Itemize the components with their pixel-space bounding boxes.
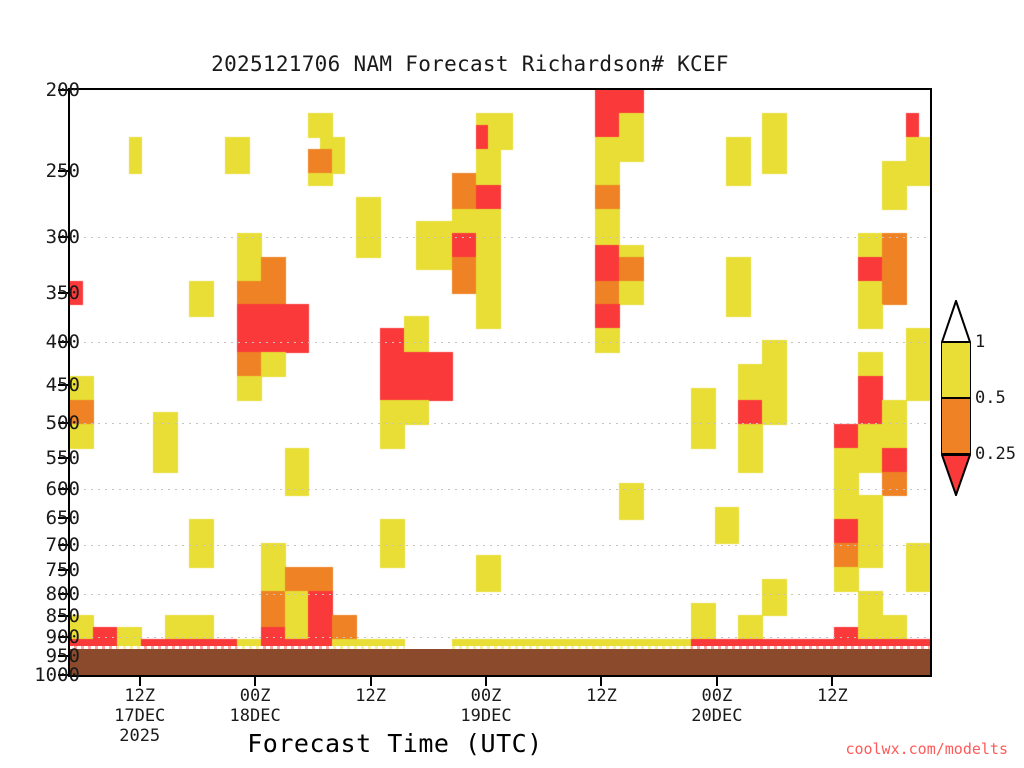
x-tick-label-6: 12Z — [817, 686, 848, 706]
chart-root: 2025121706 NAM Forecast Richardson# KCEF… — [0, 0, 1024, 768]
y-tick-label-250: 250 — [46, 160, 80, 182]
y-tick-label-450: 450 — [46, 374, 80, 396]
y-tick-label-400: 400 — [46, 331, 80, 353]
x-tick-time-0: 12Z — [114, 686, 165, 706]
y-tick-label-800: 800 — [46, 583, 80, 605]
colorbar-arrow-up — [941, 300, 971, 342]
surface-line — [70, 646, 930, 649]
terrain-layer — [70, 90, 930, 675]
source-credit: coolwx.com/modelts — [845, 740, 1008, 758]
x-tick-mark-1 — [254, 677, 256, 686]
terrain-band — [70, 649, 930, 675]
x-tick-mark-0 — [139, 677, 141, 686]
x-tick-time-1: 00Z — [230, 686, 281, 706]
y-tick-label-850: 850 — [46, 605, 80, 627]
x-tick-label-1: 00Z18DEC — [230, 686, 281, 726]
y-tick-label-1000: 1000 — [34, 664, 80, 686]
x-tick-time-3: 00Z — [460, 686, 511, 706]
y-tick-label-500: 500 — [46, 412, 80, 434]
y-tick-label-600: 600 — [46, 478, 80, 500]
x-tick-date-5: 20DEC — [691, 706, 742, 726]
y-tick-label-650: 650 — [46, 507, 80, 529]
colorbar-tick-label-2: 0.25 — [975, 444, 1016, 464]
x-tick-time-4: 12Z — [586, 686, 617, 706]
y-tick-label-200: 200 — [46, 79, 80, 101]
colorbar-tick-label-1: 0.5 — [975, 388, 1006, 408]
colorbar-arrow-down — [941, 454, 971, 496]
x-tick-date-0: 17DEC — [114, 706, 165, 726]
y-tick-label-550: 550 — [46, 447, 80, 469]
x-axis-title: Forecast Time (UTC) — [0, 729, 790, 758]
x-tick-time-6: 12Z — [817, 686, 848, 706]
x-tick-mark-6 — [831, 677, 833, 686]
x-tick-label-4: 12Z — [586, 686, 617, 706]
y-tick-label-350: 350 — [46, 282, 80, 304]
page-title: 2025121706 NAM Forecast Richardson# KCEF — [0, 52, 940, 76]
x-tick-label-2: 12Z — [355, 686, 386, 706]
colorbar-tick-label-0: 1 — [975, 332, 985, 352]
y-tick-label-300: 300 — [46, 226, 80, 248]
x-tick-date-1: 18DEC — [230, 706, 281, 726]
y-tick-label-700: 700 — [46, 534, 80, 556]
colorbar-band-orange — [941, 398, 971, 454]
x-tick-mark-4 — [600, 677, 602, 686]
x-tick-label-5: 00Z20DEC — [691, 686, 742, 726]
x-tick-mark-3 — [485, 677, 487, 686]
x-tick-time-2: 12Z — [355, 686, 386, 706]
x-tick-date-3: 19DEC — [460, 706, 511, 726]
x-tick-mark-5 — [716, 677, 718, 686]
y-tick-label-750: 750 — [46, 559, 80, 581]
plot-area — [68, 88, 932, 677]
x-tick-time-5: 00Z — [691, 686, 742, 706]
x-tick-label-3: 00Z19DEC — [460, 686, 511, 726]
colorbar-band-yellow — [941, 342, 971, 398]
x-tick-mark-2 — [370, 677, 372, 686]
